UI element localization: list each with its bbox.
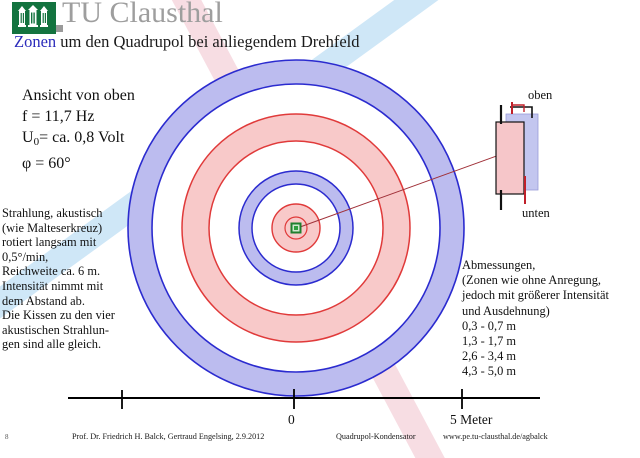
- page-title: Zonen um den Quadrupol bei anliegendem D…: [14, 32, 359, 52]
- footer: 8 Prof. Dr. Friedrich H. Balck, Gertraud…: [0, 430, 640, 448]
- note-right-line: jedoch mit größerer Intensität: [462, 288, 609, 303]
- scale-label-five-meter: 5 Meter: [450, 412, 492, 428]
- capacitor-inset: oben unten: [480, 88, 600, 228]
- electrode-red-bracket: [512, 105, 524, 112]
- note-left-line: Strahlung, akustisch: [2, 206, 115, 221]
- note-left-line: Die Kissen zu den vier: [2, 308, 115, 323]
- page-number: 8: [5, 433, 9, 441]
- zone-dimension-3: 2,6 - 3,4 m: [462, 349, 609, 364]
- scale-label-zero: 0: [288, 412, 295, 428]
- zone-dimension-4: 4,3 - 5,0 m: [462, 364, 609, 379]
- param-view: Ansicht von oben: [22, 85, 135, 106]
- inset-label-bottom: unten: [522, 206, 550, 221]
- page-title-rest: um den Quadrupol bei anliegendem Drehfel…: [56, 32, 359, 51]
- zone-dimension-2: 1,3 - 1,7 m: [462, 334, 609, 349]
- note-right-line: Abmessungen,: [462, 258, 609, 273]
- logo-wordmark: TU Clausthal: [62, 0, 223, 30]
- param-voltage-symbol: U: [22, 129, 34, 146]
- note-left-line: (wie Malteserkreuz): [2, 221, 115, 236]
- quadrupole-center-core: [294, 226, 298, 230]
- note-left: Strahlung, akustisch (wie Malteserkreuz)…: [2, 206, 115, 352]
- parameter-list: Ansicht von oben f = 11,7 Hz U0= ca. 0,8…: [22, 85, 135, 174]
- note-right-line: und Ausdehnung): [462, 304, 609, 319]
- note-left-line: dem Abstand ab.: [2, 294, 115, 309]
- note-right: Abmessungen, (Zonen wie ohne Anregung, j…: [462, 258, 609, 380]
- note-left-line: gen sind alle gleich.: [2, 337, 115, 352]
- page-title-accent: Zonen: [14, 32, 56, 51]
- param-voltage: U0= ca. 0,8 Volt: [22, 127, 135, 153]
- note-left-line: 0,5°/min,: [2, 250, 115, 265]
- capacitor-drawing: [480, 100, 600, 220]
- note-left-line: rotiert langsam mit: [2, 235, 115, 250]
- footer-authors: Prof. Dr. Friedrich H. Balck, Gertraud E…: [72, 432, 264, 441]
- param-frequency: f = 11,7 Hz: [22, 106, 135, 127]
- param-voltage-value: = ca. 0,8 Volt: [39, 129, 124, 146]
- param-phase: φ = 60°: [22, 153, 135, 174]
- capacitor-plate-pink: [496, 122, 524, 194]
- zone-dimension-1: 0,3 - 0,7 m: [462, 319, 609, 334]
- note-left-line: Intensität nimmt mit: [2, 279, 115, 294]
- footer-url: www.pe.tu-clausthal.de/agbalck: [443, 432, 548, 441]
- note-left-line: Reichweite ca. 6 m.: [2, 264, 115, 279]
- note-right-line: (Zonen wie ohne Anregung,: [462, 273, 609, 288]
- slide-canvas: TU Clausthal Zonen um den Quadrupol bei …: [0, 0, 640, 458]
- note-left-line: akustischen Strahlun-: [2, 323, 115, 338]
- footer-subject: Quadrupol-Kondensator: [336, 432, 416, 441]
- tu-clausthal-crest-icon: [12, 2, 56, 34]
